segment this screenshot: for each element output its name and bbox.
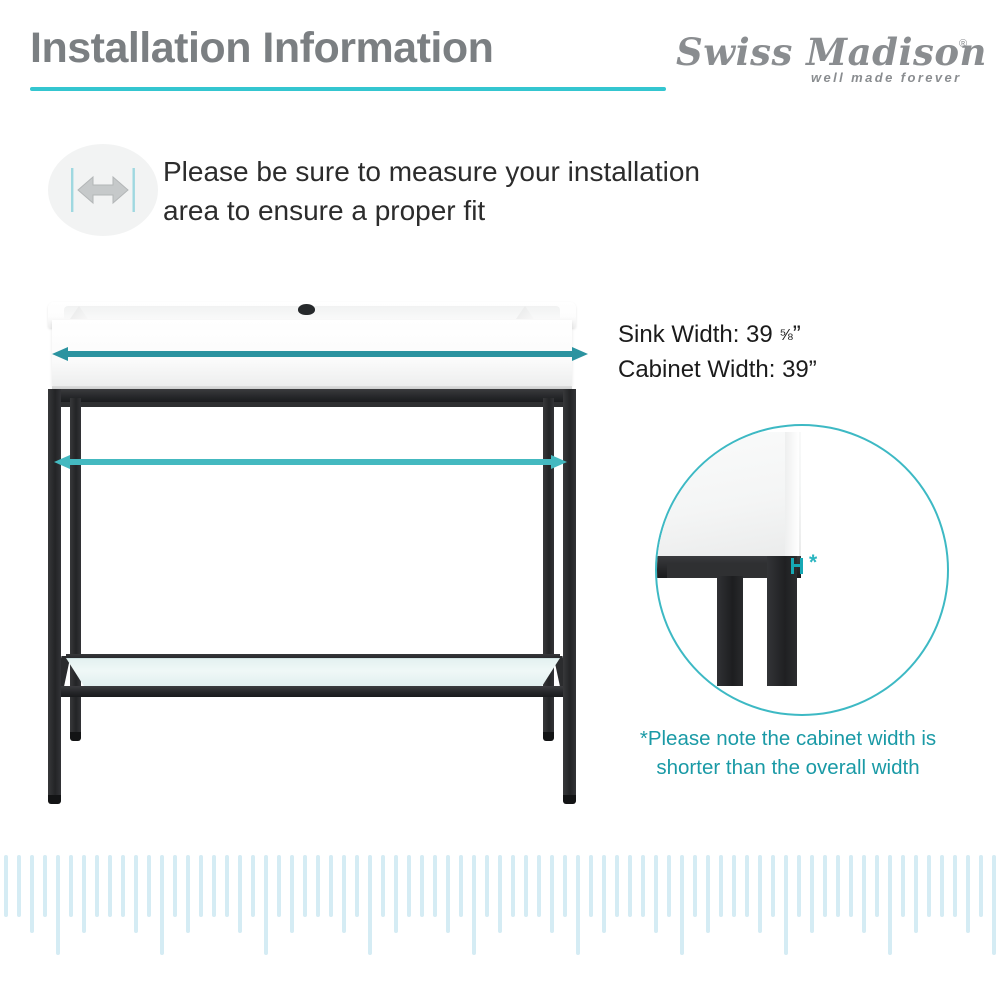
ruler-tick [966, 855, 970, 933]
sink-width-label: Sink Width: 39 [618, 321, 779, 348]
title-underline [30, 87, 666, 91]
ruler-tick [810, 855, 814, 933]
ruler-tick [498, 855, 502, 933]
double-arrow-measure-icon [48, 144, 158, 236]
ruler-tick [30, 855, 34, 933]
marker-connector [791, 564, 803, 567]
ruler-tick [134, 855, 138, 933]
ruler-tick [641, 855, 645, 917]
ruler-decoration [0, 855, 1000, 965]
ruler-tick [836, 855, 840, 917]
ruler-tick [888, 855, 892, 955]
frame-foot-front-right [563, 795, 576, 804]
ruler-tick [264, 855, 268, 955]
ruler-tick [251, 855, 255, 917]
ruler-tick [472, 855, 476, 955]
ruler-tick [849, 855, 853, 917]
sink-width-fraction: ⅝ [779, 327, 792, 344]
frame-top-rail-front [48, 389, 576, 402]
registered-trademark-icon: ® [959, 38, 967, 50]
ruler-tick [446, 855, 450, 933]
ruler-tick [823, 855, 827, 917]
ruler-tick [706, 855, 710, 933]
frame-leg-front-left [48, 389, 61, 801]
ruler-tick [784, 855, 788, 955]
ruler-tick [368, 855, 372, 955]
detail-sink-edge [785, 432, 799, 562]
frame-leg-front-right [563, 389, 576, 801]
ruler-tick [407, 855, 411, 917]
ruler-tick [238, 855, 242, 933]
ruler-tick [95, 855, 99, 917]
ruler-tick [4, 855, 8, 917]
ruler-tick [719, 855, 723, 917]
arrow-bar [68, 459, 553, 465]
dimensions-list: Sink Width: 39 ⅝” Cabinet Width: 39” [618, 318, 817, 388]
ruler-tick [394, 855, 398, 933]
glass-shelf [66, 658, 560, 689]
ruler-tick [953, 855, 957, 917]
ruler-tick [862, 855, 866, 933]
ruler-tick [654, 855, 658, 933]
ruler-tick [199, 855, 203, 917]
ruler-tick [433, 855, 437, 917]
sink-width-line: Sink Width: 39 ⅝” [618, 318, 817, 353]
ruler-tick [225, 855, 229, 917]
ruler-tick [212, 855, 216, 917]
ruler-tick [576, 855, 580, 955]
ruler-tick [771, 855, 775, 917]
ruler-tick [563, 855, 567, 917]
ruler-tick [316, 855, 320, 917]
ruler-tick [381, 855, 385, 917]
ruler-tick [667, 855, 671, 917]
ruler-tick [173, 855, 177, 917]
ruler-tick [342, 855, 346, 933]
ruler-tick [901, 855, 905, 917]
ruler-tick [56, 855, 60, 955]
ruler-tick [303, 855, 307, 917]
ruler-tick [108, 855, 112, 917]
frame-foot-front-left [48, 795, 61, 804]
ruler-tick [602, 855, 606, 933]
sink-width-unit: ” [793, 321, 801, 348]
ruler-tick [758, 855, 762, 933]
ruler-tick [979, 855, 983, 917]
ruler-tick [875, 855, 879, 917]
detail-sink-body [655, 432, 801, 564]
ruler-tick [485, 855, 489, 917]
arrow-head-right-icon [572, 347, 588, 361]
ruler-tick [511, 855, 515, 917]
ruler-tick [550, 855, 554, 933]
ruler-tick [940, 855, 944, 917]
measure-icon-badge [48, 144, 158, 236]
frame-foot-back-right [543, 732, 554, 741]
ruler-tick [732, 855, 736, 917]
ruler-tick [290, 855, 294, 933]
sink-width-arrow [52, 347, 588, 361]
ruler-tick [927, 855, 931, 917]
faucet-hole-icon [298, 304, 315, 315]
ruler-tick [69, 855, 73, 917]
ruler-tick [186, 855, 190, 933]
measure-instruction-text: Please be sure to measure your installat… [163, 153, 723, 230]
width-offset-marker-icon [791, 558, 807, 574]
detail-leg-back [717, 576, 743, 686]
ruler-tick [615, 855, 619, 917]
ruler-tick [329, 855, 333, 917]
ruler-tick [524, 855, 528, 917]
ruler-tick [537, 855, 541, 917]
detail-leg-front [767, 556, 797, 686]
ruler-tick [160, 855, 164, 955]
cabinet-width-footnote: *Please note the cabinet width is shorte… [613, 724, 963, 782]
cabinet-width-line: Cabinet Width: 39” [618, 353, 817, 388]
ruler-tick [680, 855, 684, 955]
brand-name: Swiss Madison [676, 30, 966, 74]
ruler-tick [914, 855, 918, 933]
ruler-tick [43, 855, 47, 917]
ruler-tick [797, 855, 801, 917]
ruler-tick [277, 855, 281, 917]
ruler-tick [745, 855, 749, 917]
detail-asterisk: * [809, 552, 817, 573]
ruler-tick [992, 855, 996, 955]
ruler-tick [17, 855, 21, 917]
ruler-tick [121, 855, 125, 917]
brand-logo: Swiss Madison ® well made forever [676, 30, 976, 92]
cabinet-width-arrow [54, 455, 567, 469]
ruler-tick [147, 855, 151, 917]
magnified-corner-detail: * [655, 424, 949, 716]
ruler-tick [82, 855, 86, 933]
ruler-tick [693, 855, 697, 917]
ruler-tick [355, 855, 359, 917]
brand-tagline: well made forever [811, 70, 962, 85]
ruler-tick [459, 855, 463, 917]
ruler-tick [589, 855, 593, 917]
shelf-rail-front [52, 686, 572, 697]
frame-foot-back-left [70, 732, 81, 741]
arrow-bar [66, 351, 574, 357]
vanity-illustration [30, 290, 590, 810]
arrow-head-right-icon [551, 455, 567, 469]
page-title: Installation Information [30, 24, 493, 73]
ruler-tick [420, 855, 424, 917]
ruler-tick [628, 855, 632, 917]
installation-information-page: Installation Information Swiss Madison ®… [0, 0, 1000, 1000]
